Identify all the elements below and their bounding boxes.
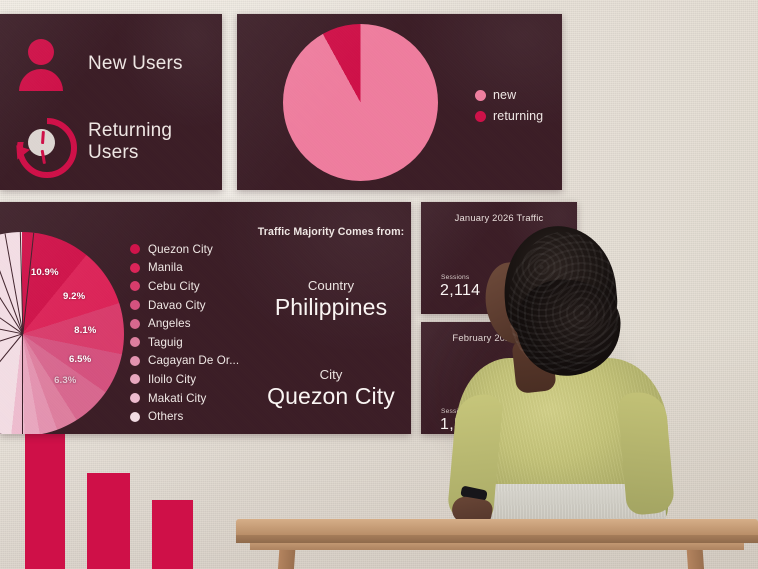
legend-row-new-users: New Users <box>14 36 183 92</box>
city-legend-item[interactable]: Others <box>130 407 239 426</box>
city-pie-legend: Quezon CityManilaCebu CityDavao CityAnge… <box>130 240 239 426</box>
city-legend-item[interactable]: Angeles <box>130 314 239 333</box>
city-legend-swatch <box>130 244 140 254</box>
panel-visitor-pie-chart[interactable]: new returning <box>237 14 562 190</box>
city-legend-item[interactable]: Davao City <box>130 296 239 315</box>
city-legend-label: Cebu City <box>148 280 200 293</box>
city-pie-chart <box>0 232 124 434</box>
city-slice-label: 6.3% <box>54 375 76 386</box>
city-legend-item[interactable]: Quezon City <box>130 240 239 259</box>
city-legend-swatch <box>130 356 140 366</box>
legend-item[interactable]: new <box>475 88 543 102</box>
traffic-majority-block: Traffic Majority Comes from: Country Phi… <box>252 226 410 410</box>
bench-leg-right <box>687 549 706 569</box>
visitor-pie-chart <box>283 24 438 181</box>
legend-label-new: new <box>493 88 516 102</box>
city-legend-swatch <box>130 374 140 384</box>
city-legend-label: Taguig <box>148 336 183 349</box>
legend-swatch-returning <box>475 111 486 122</box>
scene-root: New Users Returning Users new returning <box>0 0 758 569</box>
city-legend-swatch <box>130 300 140 310</box>
city-legend-swatch <box>130 319 140 329</box>
city-legend-item[interactable]: Cebu City <box>130 277 239 296</box>
january-card-title: January 2026 Traffic <box>421 212 577 223</box>
person-icon <box>14 36 70 92</box>
city-slice-label: 6.5% <box>69 354 91 365</box>
city-legend-label: Makati City <box>148 392 206 405</box>
returning-users-label: Returning Users <box>88 120 172 164</box>
city-slice-label: 8.1% <box>74 325 96 336</box>
city-legend-swatch <box>130 263 140 273</box>
history-clock-icon <box>14 114 70 170</box>
traffic-majority-heading: Traffic Majority Comes from: <box>252 226 410 238</box>
city-legend-swatch <box>130 393 140 403</box>
city-value: Quezon City <box>252 383 410 410</box>
wall-bar-2 <box>87 473 130 569</box>
hair-texture <box>508 232 620 372</box>
city-legend-item[interactable]: Makati City <box>130 389 239 408</box>
city-slice-label: 9.2% <box>63 291 85 302</box>
panel-city-breakdown[interactable]: 10.9%9.2%8.1%6.5%6.3% Quezon CityManilaC… <box>0 202 411 434</box>
visitor-pie-legend: new returning <box>475 88 543 130</box>
bench-leg-left <box>277 549 296 569</box>
city-legend-swatch <box>130 412 140 422</box>
right-arm <box>617 390 675 516</box>
legend-item[interactable]: returning <box>475 109 543 123</box>
city-legend-item[interactable]: Manila <box>130 259 239 278</box>
city-slice-label: 10.9% <box>31 267 59 278</box>
city-legend-swatch <box>130 281 140 291</box>
person-figure <box>430 226 690 526</box>
city-legend-label: Manila <box>148 261 183 274</box>
country-label: Country <box>252 278 410 293</box>
bench <box>236 519 758 569</box>
city-legend-item[interactable]: Cagayan De Or... <box>130 352 239 371</box>
city-legend-label: Davao City <box>148 299 206 312</box>
legend-row-returning-users: Returning Users <box>14 114 172 170</box>
city-legend-label: Cagayan De Or... <box>148 354 239 367</box>
panel-user-types[interactable]: New Users Returning Users <box>0 14 222 190</box>
legend-swatch-new <box>475 90 486 101</box>
city-legend-label: Quezon City <box>148 243 213 256</box>
city-legend-item[interactable]: Iloilo City <box>130 370 239 389</box>
new-users-label: New Users <box>88 53 183 75</box>
wall-bar-3 <box>152 500 193 569</box>
city-label: City <box>252 367 410 382</box>
bench-apron <box>250 542 744 550</box>
country-value: Philippines <box>252 294 410 321</box>
bench-seat <box>236 519 758 535</box>
legend-label-returning: returning <box>493 109 543 123</box>
city-legend-swatch <box>130 337 140 347</box>
bench-edge <box>236 534 758 543</box>
wall-bar-1 <box>25 412 65 569</box>
city-legend-label: Angeles <box>148 317 191 330</box>
city-legend-label: Iloilo City <box>148 373 196 386</box>
city-legend-item[interactable]: Taguig <box>130 333 239 352</box>
city-legend-label: Others <box>148 410 183 423</box>
